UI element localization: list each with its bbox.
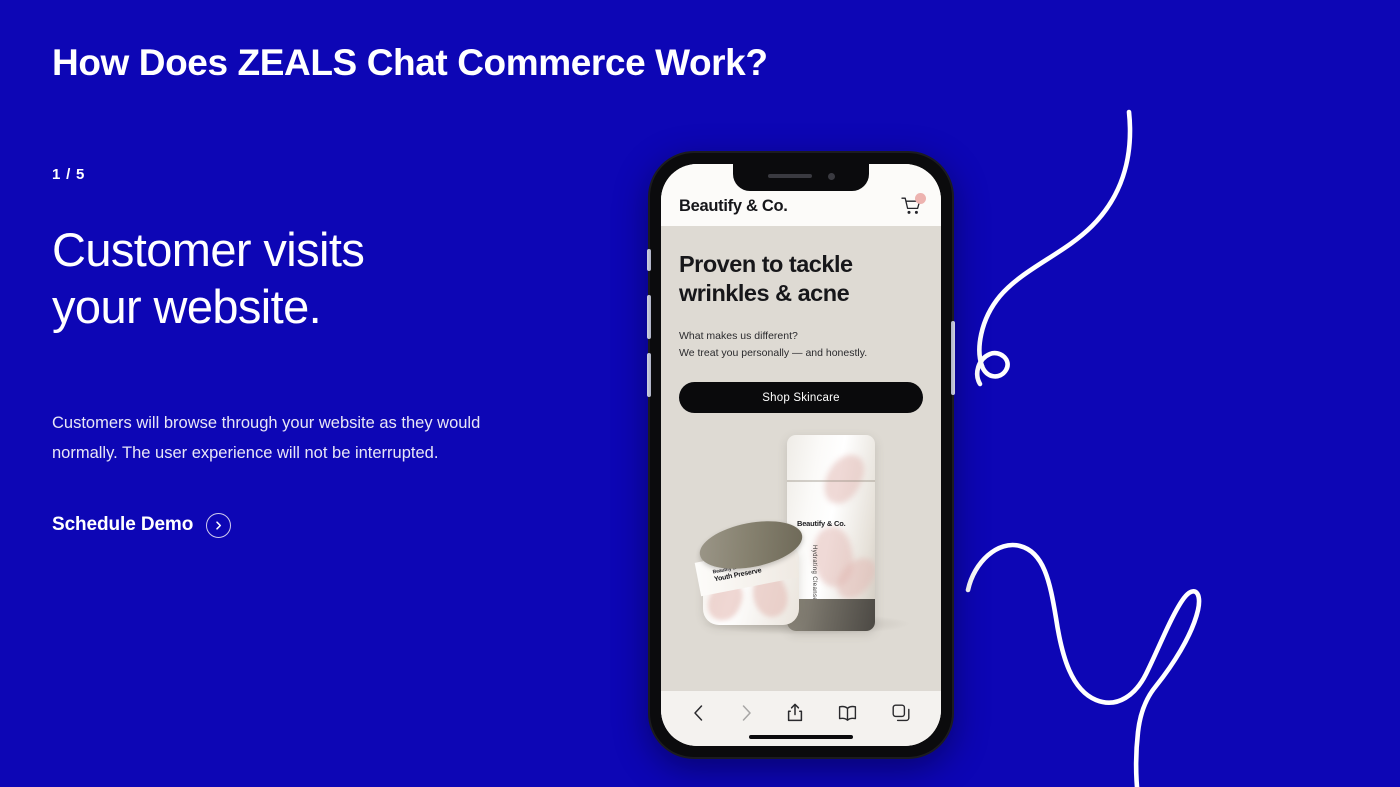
step-description: Customers will browse through your websi… bbox=[52, 408, 492, 469]
shopping-cart-icon[interactable] bbox=[901, 196, 923, 216]
hero-headline-line-1: Proven to tackle bbox=[679, 251, 853, 277]
product-jar: Beautify & Co. Youth Preserve bbox=[699, 523, 803, 627]
forward-icon[interactable] bbox=[740, 704, 753, 722]
page-title: How Does ZEALS Chat Commerce Work? bbox=[52, 42, 768, 84]
site-brand: Beautify & Co. bbox=[679, 197, 788, 216]
bottle-brand-label: Beautify & Co. bbox=[797, 519, 845, 528]
bottle-product-name: Hydrating Cleanser bbox=[811, 545, 817, 604]
home-indicator bbox=[749, 735, 853, 739]
schedule-demo-label: Schedule Demo bbox=[52, 514, 193, 536]
hero-sub-line-2: We treat you personally — and honestly. bbox=[679, 347, 867, 359]
shop-skincare-button[interactable]: Shop Skincare bbox=[679, 382, 923, 413]
bookmarks-icon[interactable] bbox=[838, 705, 857, 721]
step-heading: Customer visits your website. bbox=[52, 221, 532, 336]
power-button[interactable] bbox=[951, 321, 955, 395]
hero-sub-line-1: What makes us different? bbox=[679, 330, 798, 342]
silence-switch[interactable] bbox=[647, 249, 651, 271]
decorative-squiggle-bottom bbox=[940, 518, 1220, 787]
phone-notch bbox=[733, 164, 869, 191]
phone-mockup: Beautify & Co. Proven to tackle wrinkles… bbox=[648, 151, 954, 759]
site-hero-subtext: What makes us different? We treat you pe… bbox=[679, 328, 923, 362]
step-heading-line-2: your website. bbox=[52, 280, 321, 333]
hero-headline-line-2: wrinkles & acne bbox=[679, 280, 849, 306]
phone-frame: Beautify & Co. Proven to tackle wrinkles… bbox=[648, 151, 954, 759]
step-heading-line-1: Customer visits bbox=[52, 223, 364, 276]
cart-badge bbox=[915, 193, 926, 204]
front-camera-icon bbox=[828, 173, 835, 180]
product-image: Beautify & Co. Hydrating Cleanser Beauti… bbox=[679, 427, 923, 657]
speaker-grille-icon bbox=[768, 174, 812, 179]
decorative-squiggle-top bbox=[952, 100, 1202, 400]
share-icon[interactable] bbox=[787, 703, 803, 722]
site-hero-section: Proven to tackle wrinkles & acne What ma… bbox=[661, 226, 941, 690]
back-icon[interactable] bbox=[692, 704, 705, 722]
step-content-column: 1 / 5 Customer visits your website. Cust… bbox=[52, 166, 532, 538]
site-hero-headline: Proven to tackle wrinkles & acne bbox=[679, 250, 923, 308]
tabs-icon[interactable] bbox=[892, 704, 910, 722]
step-counter: 1 / 5 bbox=[52, 166, 532, 183]
volume-down-button[interactable] bbox=[647, 353, 651, 397]
schedule-demo-link[interactable]: Schedule Demo bbox=[52, 513, 231, 538]
bottle-petal-graphic bbox=[818, 449, 869, 510]
volume-up-button[interactable] bbox=[647, 295, 651, 339]
bottle-cap-seam bbox=[787, 480, 875, 482]
phone-screen: Beautify & Co. Proven to tackle wrinkles… bbox=[661, 164, 941, 746]
chevron-right-icon bbox=[206, 513, 231, 538]
safari-toolbar bbox=[661, 690, 941, 746]
